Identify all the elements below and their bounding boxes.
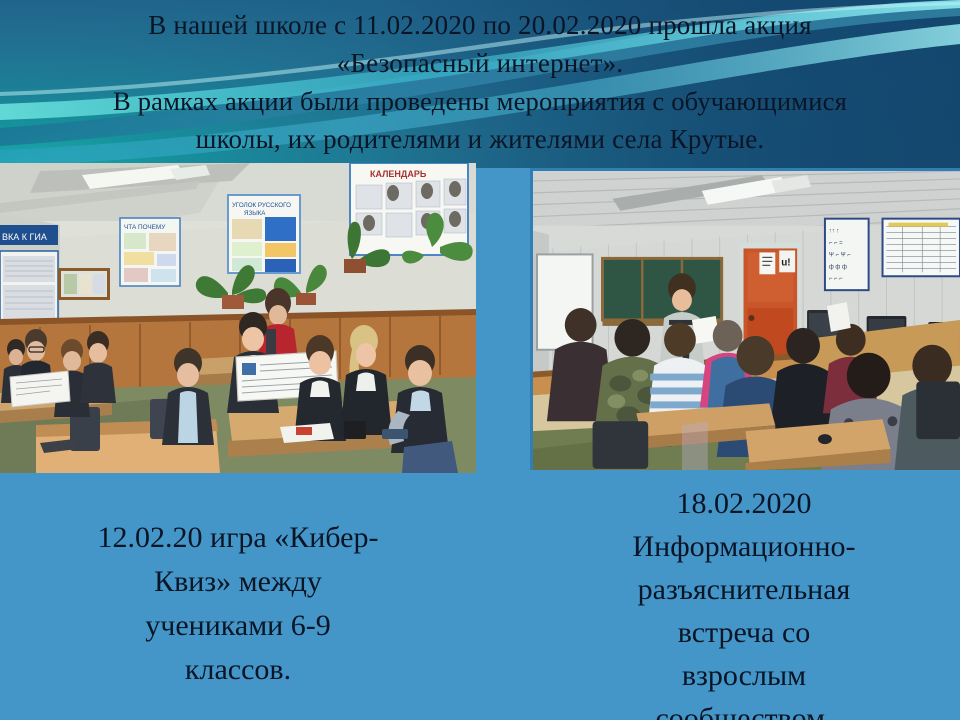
title-line-2: «Безопасный интернет». <box>0 44 960 82</box>
caption-right-line-2: Информационно- <box>534 525 954 568</box>
caption-right-line-5: взрослым <box>534 654 954 697</box>
photo-classroom-adults-image: u! ↑↑ ↑⌐ ⌐ = Ψ ⌐ Ψ ⌐ф ф ф ⌐ ⌐ ⌐ <box>533 171 960 470</box>
caption-left: 12.02.20 игра «Кибер- Квиз» между ученик… <box>28 516 448 692</box>
title-line-4: школы, их родителями и жителями села Кру… <box>0 120 960 158</box>
caption-right-line-6: сообществом. <box>534 697 954 720</box>
svg-text:⌐ ⌐ =: ⌐ ⌐ = <box>829 240 843 246</box>
photo-classroom-students: ВКА К ГИА ЧТА ПОЧЕМУ УГОЛОК РУССКОГО <box>0 163 476 473</box>
caption-left-line-1: 12.02.20 игра «Кибер- <box>28 516 448 560</box>
caption-right: 18.02.2020 Информационно- разъяснительна… <box>534 482 954 720</box>
title-line-3: В рамках акции были проведены мероприяти… <box>0 82 960 120</box>
svg-text:⌐ ⌐ ⌐: ⌐ ⌐ ⌐ <box>829 276 843 282</box>
svg-text:УГОЛОК РУССКОГО: УГОЛОК РУССКОГО <box>232 202 291 209</box>
svg-text:ЯЗЫКА: ЯЗЫКА <box>244 210 266 217</box>
photo-classroom-adults: u! ↑↑ ↑⌐ ⌐ = Ψ ⌐ Ψ ⌐ф ф ф ⌐ ⌐ ⌐ <box>530 168 960 470</box>
svg-text:u!: u! <box>781 257 790 268</box>
caption-left-line-4: классов. <box>28 648 448 692</box>
svg-text:ф ф ф: ф ф ф <box>829 264 847 270</box>
caption-left-line-2: Квиз» между <box>28 560 448 604</box>
caption-left-line-3: учениками 6-9 <box>28 604 448 648</box>
caption-right-line-4: встреча со <box>534 611 954 654</box>
svg-text:Ψ ⌐ Ψ ⌐: Ψ ⌐ Ψ ⌐ <box>829 252 851 258</box>
title-line-1: В нашей школе с 11.02.2020 по 20.02.2020… <box>0 6 960 44</box>
caption-right-line-3: разъяснительная <box>534 568 954 611</box>
svg-text:ВКА К ГИА: ВКА К ГИА <box>2 232 47 242</box>
svg-text:КАЛЕНДАРЬ: КАЛЕНДАРЬ <box>370 169 427 179</box>
slide-title: В нашей школе с 11.02.2020 по 20.02.2020… <box>0 6 960 158</box>
photo-classroom-students-image: ВКА К ГИА ЧТА ПОЧЕМУ УГОЛОК РУССКОГО <box>0 163 476 473</box>
caption-right-line-1: 18.02.2020 <box>534 482 954 525</box>
svg-text:↑↑ ↑: ↑↑ ↑ <box>829 229 840 235</box>
svg-text:ЧТА ПОЧЕМУ: ЧТА ПОЧЕМУ <box>124 224 166 231</box>
presentation-slide: В нашей школе с 11.02.2020 по 20.02.2020… <box>0 0 960 720</box>
